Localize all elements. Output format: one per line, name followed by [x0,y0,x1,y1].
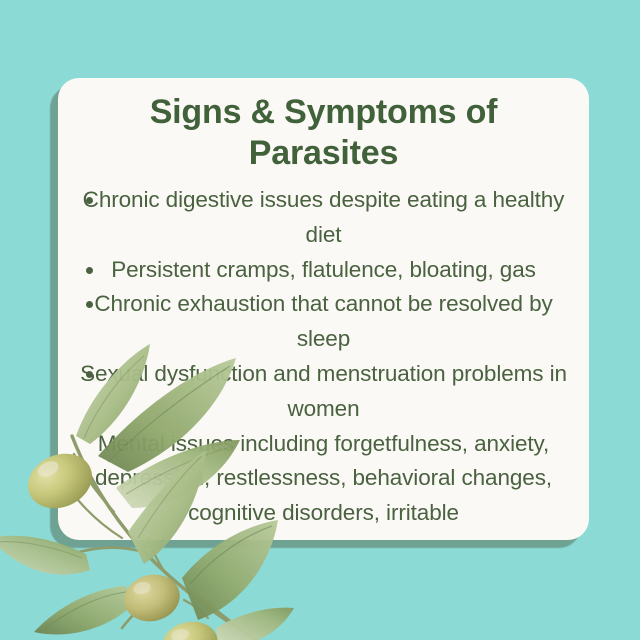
bullet-dot-icon [86,197,93,204]
content-card: Signs & Symptoms of Parasites Chronic di… [58,78,589,540]
list-item: Chronic exhaustion that cannot be resolv… [66,287,581,357]
leaf-shape [34,586,136,634]
page-title: Signs & Symptoms of Parasites [66,92,581,174]
bullet-dot-icon [86,267,93,274]
list-item-label: Chronic digestive issues despite eating … [74,183,573,253]
olive-fruit [158,617,222,640]
list-item: Chronic digestive issues despite eating … [66,183,581,253]
olive-fruit [119,569,184,627]
card-inner: Signs & Symptoms of Parasites Chronic di… [58,78,589,540]
list-item: Sexual dysfunction and menstruation prob… [66,357,581,427]
list-item-label: Mental issues including forgetfulness, a… [74,427,573,531]
leaf-shape [216,608,294,640]
poster-canvas: Signs & Symptoms of Parasites Chronic di… [0,0,640,640]
list-item-label: Sexual dysfunction and menstruation prob… [74,357,573,427]
list-item: Mental issues including forgetfulness, a… [66,427,581,531]
bullet-dot-icon [86,371,93,378]
list-item: Persistent cramps, flatulence, bloating,… [66,253,581,288]
list-item-label: Chronic exhaustion that cannot be resolv… [74,287,573,357]
symptom-list: Chronic digestive issues despite eating … [66,183,581,531]
list-item-label: Persistent cramps, flatulence, bloating,… [74,253,573,288]
